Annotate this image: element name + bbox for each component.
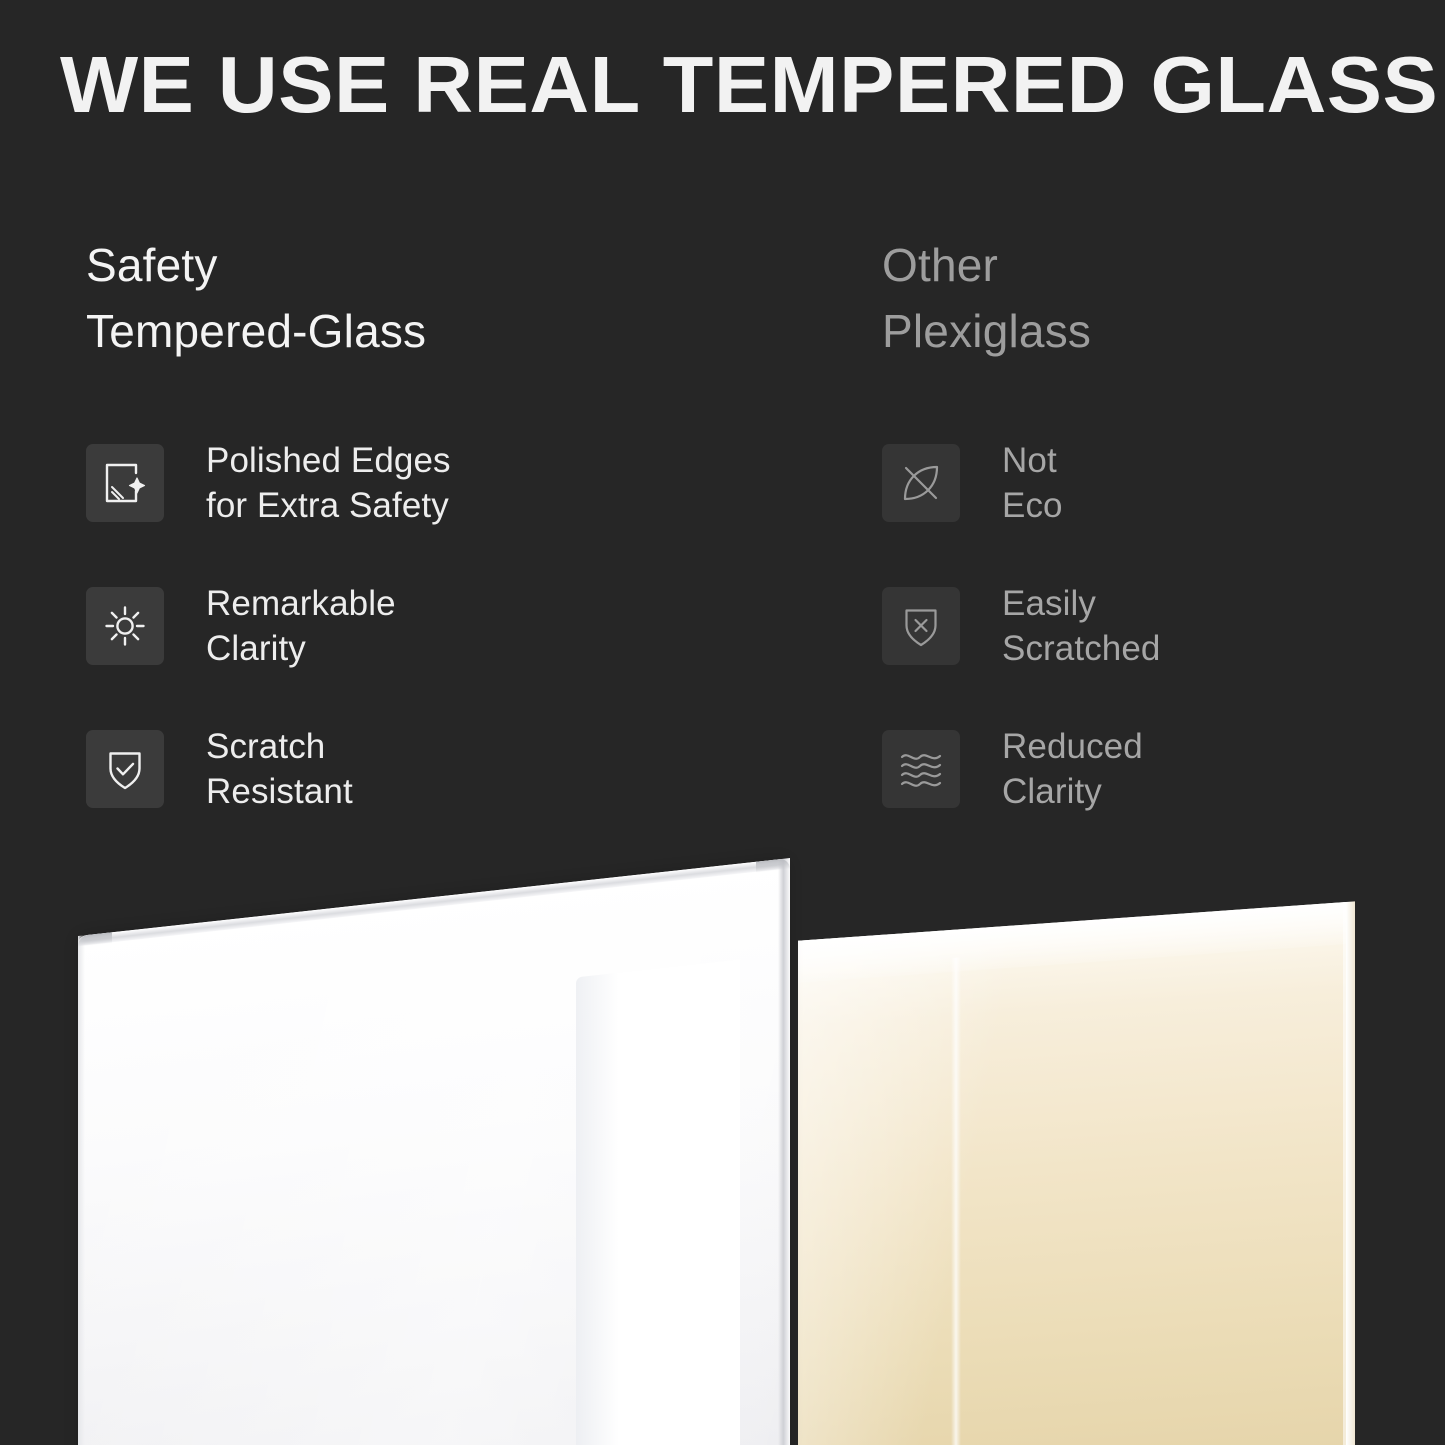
tempered-glass-left-bevel	[78, 935, 85, 1445]
tempered-glass-right-bevel	[778, 858, 790, 1445]
column-heading-right: Other Plexiglass	[882, 232, 1442, 364]
feature-row: Polished Edges for Extra Safety	[86, 444, 646, 587]
plexiglass-reflection	[951, 957, 961, 1445]
feature-label: Reduced Clarity	[1002, 724, 1143, 814]
polished-glass-pane-icon	[86, 444, 164, 522]
plexiglass-right-edge	[1346, 901, 1355, 1445]
shield-check-icon	[86, 730, 164, 808]
plexiglass-panel	[798, 902, 1346, 1445]
feature-label: Remarkable Clarity	[206, 581, 396, 671]
tempered-glass-panel	[78, 858, 790, 1445]
feature-row: Easily Scratched	[882, 587, 1442, 730]
column-heading-left: Safety Tempered-Glass	[86, 232, 646, 364]
product-panel-photo	[0, 840, 1445, 1445]
sun-brightness-icon	[86, 587, 164, 665]
comparison-column-plexiglass: Other Plexiglass Not Eco	[882, 232, 1442, 364]
feature-label: Not Eco	[1002, 438, 1063, 528]
tempered-glass-top-bevel	[78, 858, 790, 946]
leaf-crossed-out-icon	[882, 444, 960, 522]
feature-row: Remarkable Clarity	[86, 587, 646, 730]
feature-list-right: Not Eco Easily Scratched	[882, 444, 1442, 873]
plexiglass-top-highlight	[798, 902, 1346, 983]
feature-row: Not Eco	[882, 444, 1442, 587]
wavy-lines-distortion-icon	[882, 730, 960, 808]
tempered-glass-reflection	[576, 959, 740, 1445]
comparison-column-tempered-glass: Safety Tempered-Glass Polished Edges for…	[86, 232, 646, 364]
feature-label: Scratch Resistant	[206, 724, 353, 814]
shield-x-icon	[882, 587, 960, 665]
feature-label: Easily Scratched	[1002, 581, 1161, 671]
infographic-canvas: WE USE REAL TEMPERED GLASS Safety Temper…	[0, 0, 1445, 1445]
feature-list-left: Polished Edges for Extra Safety Remarkab…	[86, 444, 646, 873]
page-title: WE USE REAL TEMPERED GLASS	[60, 40, 1445, 130]
feature-label: Polished Edges for Extra Safety	[206, 438, 451, 528]
